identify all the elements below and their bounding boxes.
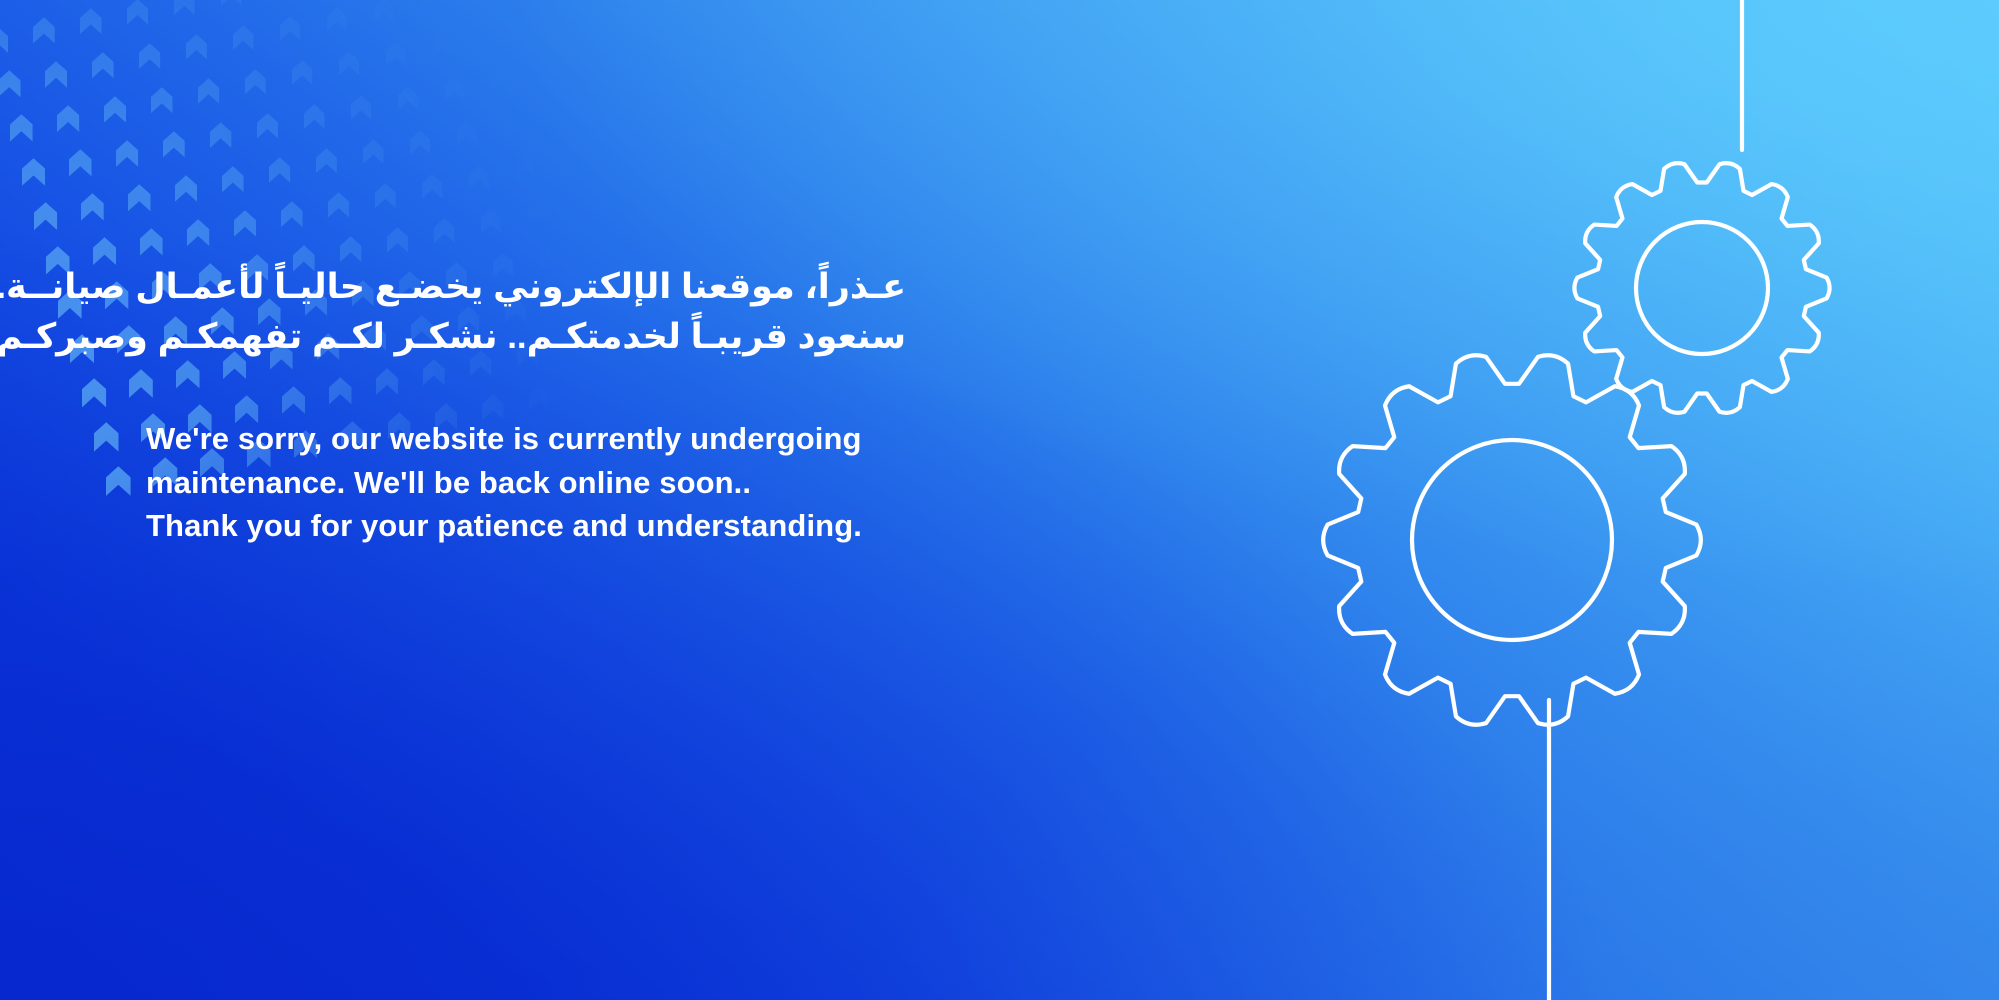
gear-small-inner-circle — [1636, 222, 1768, 354]
chevron-glyph — [186, 34, 207, 59]
chevron-glyph — [574, 6, 590, 28]
english-message-line-1: We're sorry, our website is currently un… — [146, 417, 906, 460]
chevron-glyph — [468, 0, 487, 3]
chevron-glyph — [327, 7, 347, 31]
chevron-glyph — [469, 165, 489, 189]
chevron-glyph — [92, 52, 114, 78]
chevron-glyph — [551, 103, 570, 126]
chevron-glyph — [106, 466, 131, 496]
chevron-glyph — [434, 218, 455, 243]
chevron-glyph — [198, 78, 219, 103]
chevron-glyph — [516, 156, 536, 180]
chevron-glyph — [81, 193, 104, 220]
chevron-glyph — [587, 235, 590, 259]
english-message: We're sorry, our website is currently un… — [146, 417, 906, 547]
chevron-glyph — [163, 131, 185, 157]
chevron-glyph — [340, 236, 361, 262]
chevron-glyph — [481, 209, 501, 233]
chevron-glyph — [128, 184, 151, 211]
maintenance-message: عـذراً، موقعنا الإلكتروني يخضـع حاليـاً … — [146, 262, 906, 548]
chevron-glyph — [257, 113, 278, 138]
chevron-glyph — [528, 200, 548, 224]
gear-large-inner-circle — [1412, 440, 1612, 640]
chevron-glyph — [586, 50, 590, 72]
chevron-glyph — [174, 0, 195, 15]
gear-small — [1574, 163, 1829, 413]
chevron-glyph — [304, 104, 325, 129]
chevron-glyph — [34, 202, 57, 230]
chevron-glyph — [339, 51, 359, 75]
gear-illustration — [1239, 0, 1999, 1000]
arabic-message-line-1: عـذراً، موقعنا الإلكتروني يخضـع حاليـاً … — [146, 262, 906, 312]
chevron-glyph — [80, 8, 102, 34]
chevron-glyph — [94, 422, 119, 451]
chevron-glyph — [504, 112, 523, 135]
chevron-glyph — [175, 175, 197, 202]
chevron-glyph — [445, 77, 465, 100]
chevron-glyph — [351, 95, 371, 119]
maintenance-page: عـذراً، موقعنا الإلكتروني يخضـع حاليـاً … — [0, 0, 1999, 1000]
chevron-glyph — [151, 87, 173, 113]
chevron-glyph — [387, 227, 408, 252]
arabic-message: عـذراً، موقعنا الإلكتروني يخضـع حاليـاً … — [146, 262, 906, 361]
gear-large — [1323, 355, 1701, 725]
english-message-line-3: Thank you for your patience and understa… — [146, 504, 906, 547]
chevron-glyph — [292, 60, 312, 84]
chevron-glyph — [433, 33, 452, 56]
chevron-glyph — [234, 210, 256, 236]
chevron-glyph — [22, 158, 45, 186]
chevron-glyph — [457, 121, 477, 145]
chevron-glyph — [398, 86, 418, 110]
chevron-glyph — [375, 183, 396, 208]
chevron-glyph — [410, 130, 430, 154]
chevron-glyph — [575, 191, 590, 214]
chevron-glyph — [139, 43, 160, 69]
chevron-glyph — [221, 0, 241, 6]
chevron-glyph — [116, 140, 138, 167]
chevron-glyph — [492, 68, 511, 91]
chevron-glyph — [82, 378, 106, 407]
chevron-glyph — [363, 139, 384, 164]
chevron-glyph — [539, 59, 558, 82]
arabic-message-line-2: سنعود قريبـاً لخدمتكـم.. نشكـر لكـم تفهم… — [146, 312, 906, 362]
chevron-glyph — [328, 192, 349, 217]
chevron-glyph — [281, 201, 303, 227]
chevron-glyph — [57, 105, 79, 132]
chevron-glyph — [269, 157, 290, 183]
chevron-glyph — [316, 148, 337, 173]
chevron-glyph — [210, 122, 231, 148]
chevron-glyph — [10, 114, 33, 141]
chevron-glyph — [386, 42, 406, 66]
chevron-glyph — [233, 25, 254, 50]
chevron-glyph — [0, 70, 21, 97]
chevron-glyph — [104, 96, 126, 122]
chevron-glyph — [480, 24, 499, 47]
chevron-glyph — [45, 61, 67, 88]
chevron-glyph — [374, 0, 393, 21]
chevron-glyph — [422, 174, 442, 198]
chevron-glyph — [527, 15, 546, 37]
chevron-glyph — [245, 69, 266, 94]
english-message-line-2: maintenance. We'll be back online soon.. — [146, 461, 906, 504]
chevron-glyph — [187, 219, 209, 246]
chevron-glyph — [0, 26, 8, 53]
chevron-glyph — [127, 0, 148, 25]
chevron-glyph — [33, 17, 55, 43]
chevron-glyph — [140, 228, 163, 255]
chevron-glyph — [280, 16, 300, 40]
chevron-glyph — [69, 149, 92, 176]
chevron-glyph — [222, 166, 244, 192]
chevron-glyph — [93, 237, 116, 265]
chevron-glyph — [563, 147, 582, 170]
chevron-glyph — [421, 0, 440, 12]
